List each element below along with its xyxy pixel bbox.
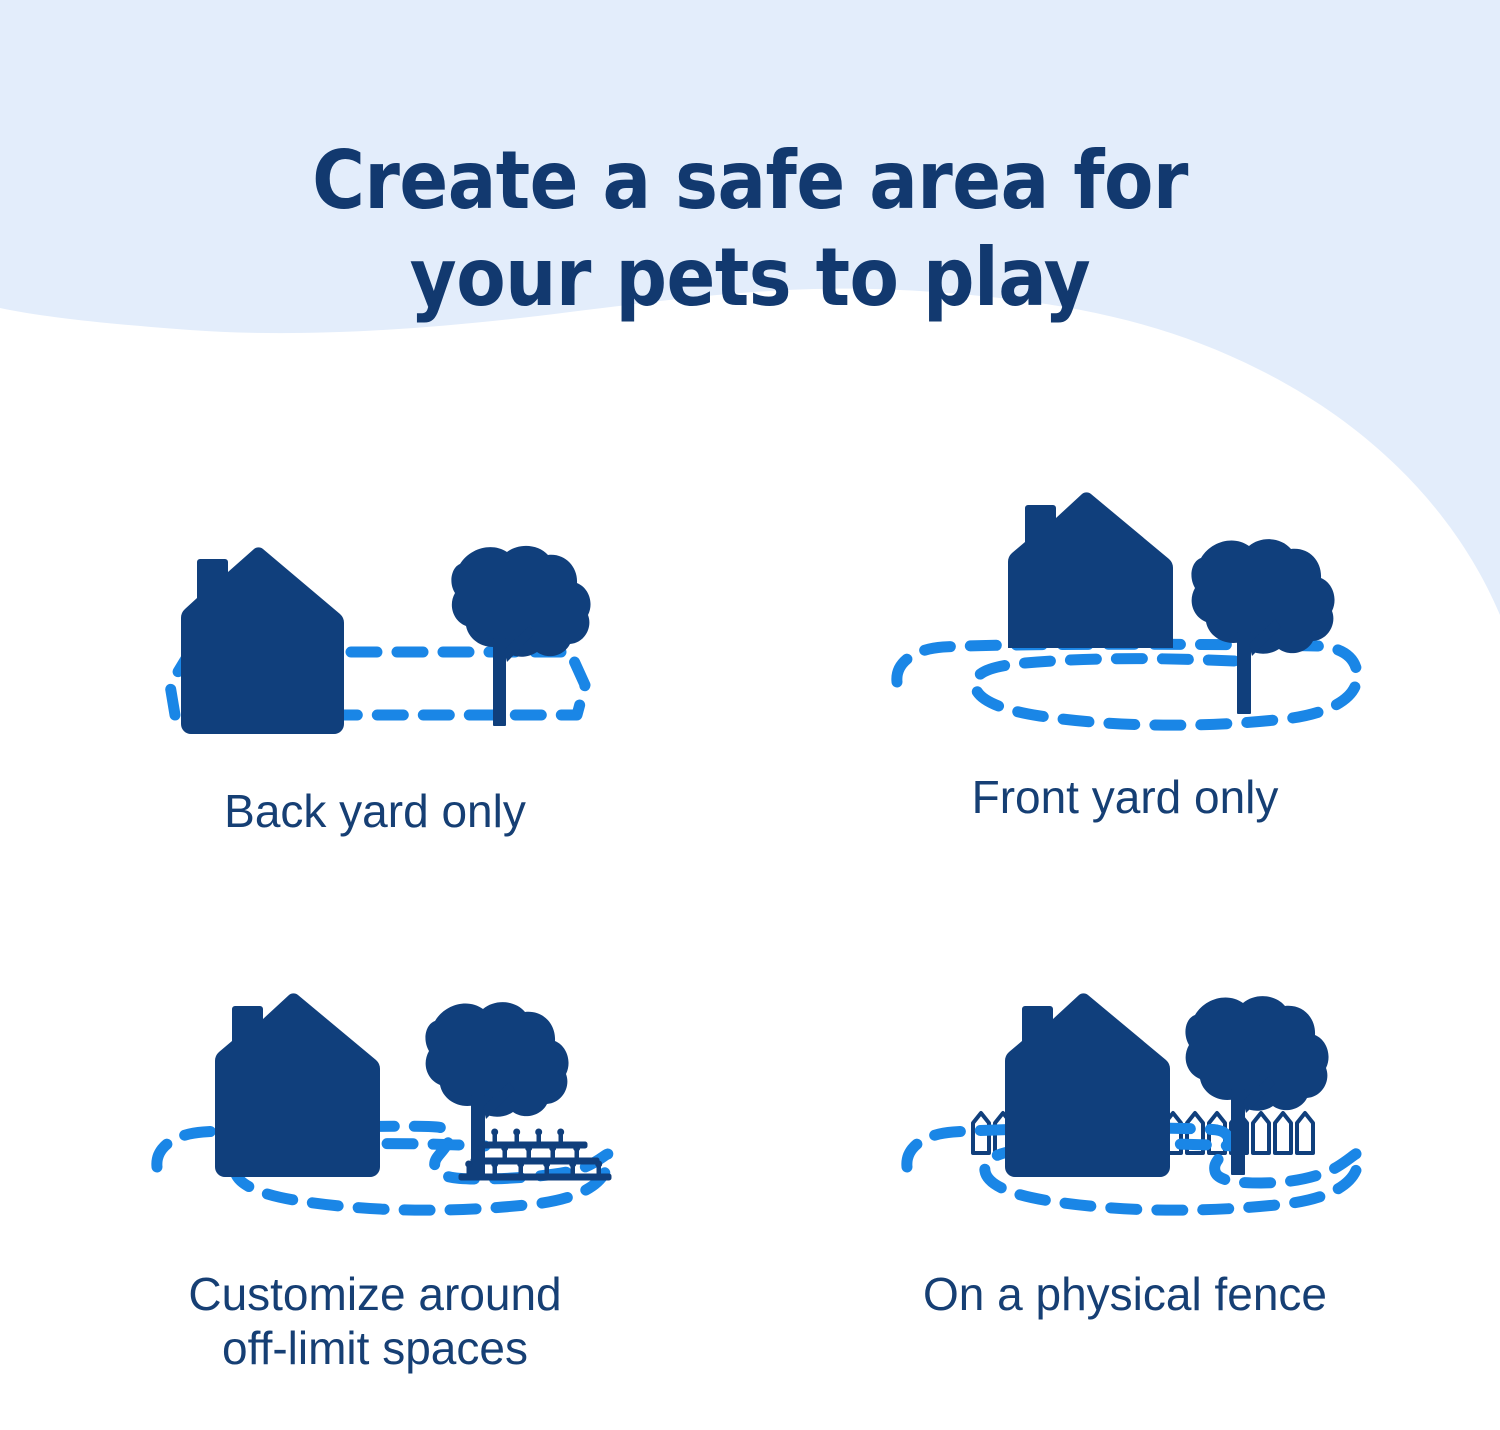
- tree-icon: [451, 546, 590, 726]
- house-icon: [1008, 492, 1173, 648]
- option-label-customize-off-limit: Customize around off-limit spaces: [188, 1267, 561, 1376]
- option-label-physical-fence: On a physical fence: [923, 1267, 1327, 1321]
- infographic-page: Create a safe area for your pets to play…: [0, 0, 1500, 1430]
- house-icon: [1005, 993, 1170, 1177]
- house-icon: [215, 993, 380, 1177]
- option-physical-fence[interactable]: On a physical fence: [750, 965, 1500, 1430]
- house-icon: [181, 547, 344, 734]
- tree-icon: [1191, 539, 1334, 714]
- option-label-back-yard-only: Back yard only: [224, 784, 526, 838]
- option-customize-off-limit[interactable]: Customize around off-limit spaces: [0, 965, 750, 1430]
- options-grid: Back yard only Front yard only: [0, 500, 1500, 1430]
- page-title-line-2: your pets to play: [0, 229, 1500, 327]
- page-title: Create a safe area for your pets to play: [0, 132, 1500, 327]
- option-front-yard-only[interactable]: Front yard only: [750, 500, 1500, 965]
- dashed-boundary-icon: [897, 644, 1357, 725]
- front-yard-illustration: [865, 486, 1385, 756]
- physical-fence-illustration: [865, 975, 1385, 1245]
- customize-off-limit-illustration: [115, 975, 635, 1245]
- option-label-front-yard-only: Front yard only: [972, 770, 1279, 824]
- page-title-line-1: Create a safe area for: [0, 132, 1500, 230]
- option-back-yard-only[interactable]: Back yard only: [0, 500, 750, 965]
- back-yard-illustration: [115, 500, 635, 770]
